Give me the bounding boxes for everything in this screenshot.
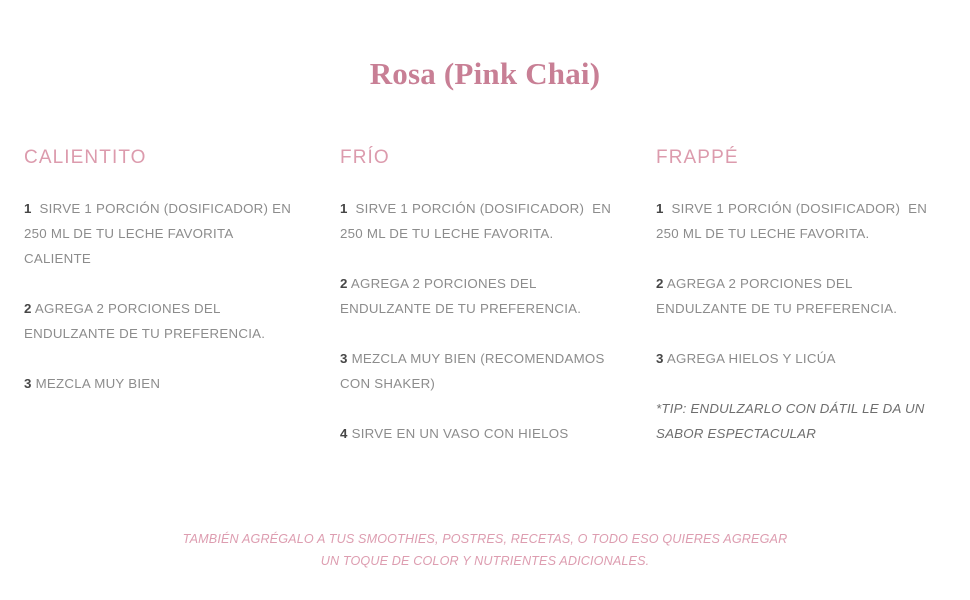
recipe-columns: CALIENTITO 1 SIRVE 1 PORCIÓN (DOSIFICADO…: [24, 146, 948, 446]
recipe-step: 2 AGREGA 2 PORCIONES DEL ENDULZANTE DE T…: [24, 296, 302, 346]
step-text: MEZCLA MUY BIEN: [32, 376, 161, 391]
column-heading: FRÍO: [340, 146, 618, 170]
step-text: SIRVE 1 PORCIÓN (DOSIFICADOR) EN 250 ML …: [340, 201, 615, 241]
recipe-column-frappe: FRAPPÉ 1 SIRVE 1 PORCIÓN (DOSIFICADOR) E…: [656, 146, 934, 446]
step-text: SIRVE EN UN VASO CON HIELOS: [348, 426, 569, 441]
recipe-step: 3 MEZCLA MUY BIEN: [24, 371, 302, 396]
page-title: Rosa (Pink Chai): [0, 56, 970, 92]
step-text: SIRVE 1 PORCIÓN (DOSIFICADOR) EN 250 ML …: [656, 201, 931, 241]
page-title-wrap: Rosa (Pink Chai): [0, 56, 970, 92]
step-number: 2: [24, 301, 32, 316]
recipe-column-frio: FRÍO 1 SIRVE 1 PORCIÓN (DOSIFICADOR) EN …: [340, 146, 618, 446]
step-text: AGREGA HIELOS Y LICÚA: [664, 351, 836, 366]
step-number: 4: [340, 426, 348, 441]
step-text: MEZCLA MUY BIEN (RECOMENDAMOS CON SHAKER…: [340, 351, 609, 391]
recipe-step: 1 SIRVE 1 PORCIÓN (DOSIFICADOR) EN 250 M…: [656, 196, 934, 246]
step-number: 3: [656, 351, 664, 366]
recipe-step: 2 AGREGA 2 PORCIONES DEL ENDULZANTE DE T…: [340, 271, 618, 321]
recipe-tip: *TIP: ENDULZARLO CON DÁTIL LE DA UN SABO…: [656, 396, 934, 446]
step-text: AGREGA 2 PORCIONES DEL ENDULZANTE DE TU …: [24, 301, 265, 341]
column-heading: FRAPPÉ: [656, 146, 934, 170]
recipe-step: 2 AGREGA 2 PORCIONES DEL ENDULZANTE DE T…: [656, 271, 934, 321]
step-number: 1: [656, 201, 664, 216]
step-text: AGREGA 2 PORCIONES DEL ENDULZANTE DE TU …: [656, 276, 897, 316]
footer-line-2: UN TOQUE DE COLOR Y NUTRIENTES ADICIONAL…: [0, 550, 970, 572]
step-number: 1: [24, 201, 32, 216]
recipe-step: 4 SIRVE EN UN VASO CON HIELOS: [340, 421, 618, 446]
recipe-step: 1 SIRVE 1 PORCIÓN (DOSIFICADOR) EN 250 M…: [24, 196, 302, 271]
step-number: 3: [24, 376, 32, 391]
recipe-step: 3 AGREGA HIELOS Y LICÚA: [656, 346, 934, 371]
recipe-step: 1 SIRVE 1 PORCIÓN (DOSIFICADOR) EN 250 M…: [340, 196, 618, 246]
recipe-page: Rosa (Pink Chai) CALIENTITO 1 SIRVE 1 PO…: [0, 0, 970, 600]
footer-note: TAMBIÉN AGRÉGALO A TUS SMOOTHIES, POSTRE…: [0, 528, 970, 572]
step-number: 2: [340, 276, 348, 291]
recipe-column-calientito: CALIENTITO 1 SIRVE 1 PORCIÓN (DOSIFICADO…: [24, 146, 302, 396]
column-heading: CALIENTITO: [24, 146, 302, 170]
step-text: AGREGA 2 PORCIONES DEL ENDULZANTE DE TU …: [340, 276, 581, 316]
recipe-step: 3 MEZCLA MUY BIEN (RECOMENDAMOS CON SHAK…: [340, 346, 618, 396]
footer-line-1: TAMBIÉN AGRÉGALO A TUS SMOOTHIES, POSTRE…: [0, 528, 970, 550]
step-number: 1: [340, 201, 348, 216]
step-number: 3: [340, 351, 348, 366]
step-number: 2: [656, 276, 664, 291]
step-text: SIRVE 1 PORCIÓN (DOSIFICADOR) EN 250 ML …: [24, 201, 295, 266]
